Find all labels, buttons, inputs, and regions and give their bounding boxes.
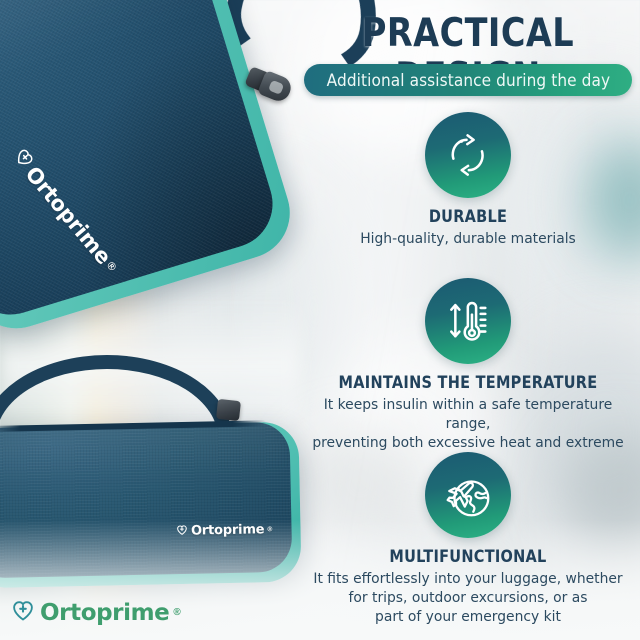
feature-icon-badge: [425, 112, 511, 198]
feature-description: High-quality, durable materials: [305, 229, 632, 248]
infographic-canvas: Ortoprime® Ortoprime® PRACTICAL DESIGN A…: [0, 0, 640, 640]
feature-description: It fits effortlessly into your luggage, …: [305, 569, 632, 626]
lower-case-strap-clip: [216, 399, 241, 421]
feature-icon-badge: [425, 452, 511, 538]
feature-title: MAINTAINS THE TEMPERATURE: [317, 373, 620, 392]
brand-registered-mark: ®: [173, 607, 180, 618]
feature-icon-badge: [425, 278, 511, 364]
feature-multifunctional: MULTIFUNCTIONAL It fits effortlessly int…: [296, 452, 640, 626]
globe-airplane-icon: [441, 468, 495, 522]
heart-plus-icon: [10, 597, 36, 628]
feature-durable: DURABLE High-quality, durable materials: [296, 112, 640, 248]
feature-title: MULTIFUNCTIONAL: [317, 547, 620, 566]
subtitle-text: Additional assistance during the day: [326, 71, 609, 90]
content-column: PRACTICAL DESIGN Additional assistance d…: [296, 0, 640, 640]
feature-temperature: MAINTAINS THE TEMPERATURE It keeps insul…: [296, 278, 640, 471]
brand-footer-logo: Ortoprime®: [10, 597, 181, 628]
feature-title: DURABLE: [317, 207, 620, 226]
thermometer-icon: [441, 294, 495, 348]
subtitle-pill: Additional assistance during the day: [304, 64, 632, 96]
recycle-arrows-icon: [442, 129, 494, 181]
brand-name: Ortoprime: [40, 600, 169, 626]
